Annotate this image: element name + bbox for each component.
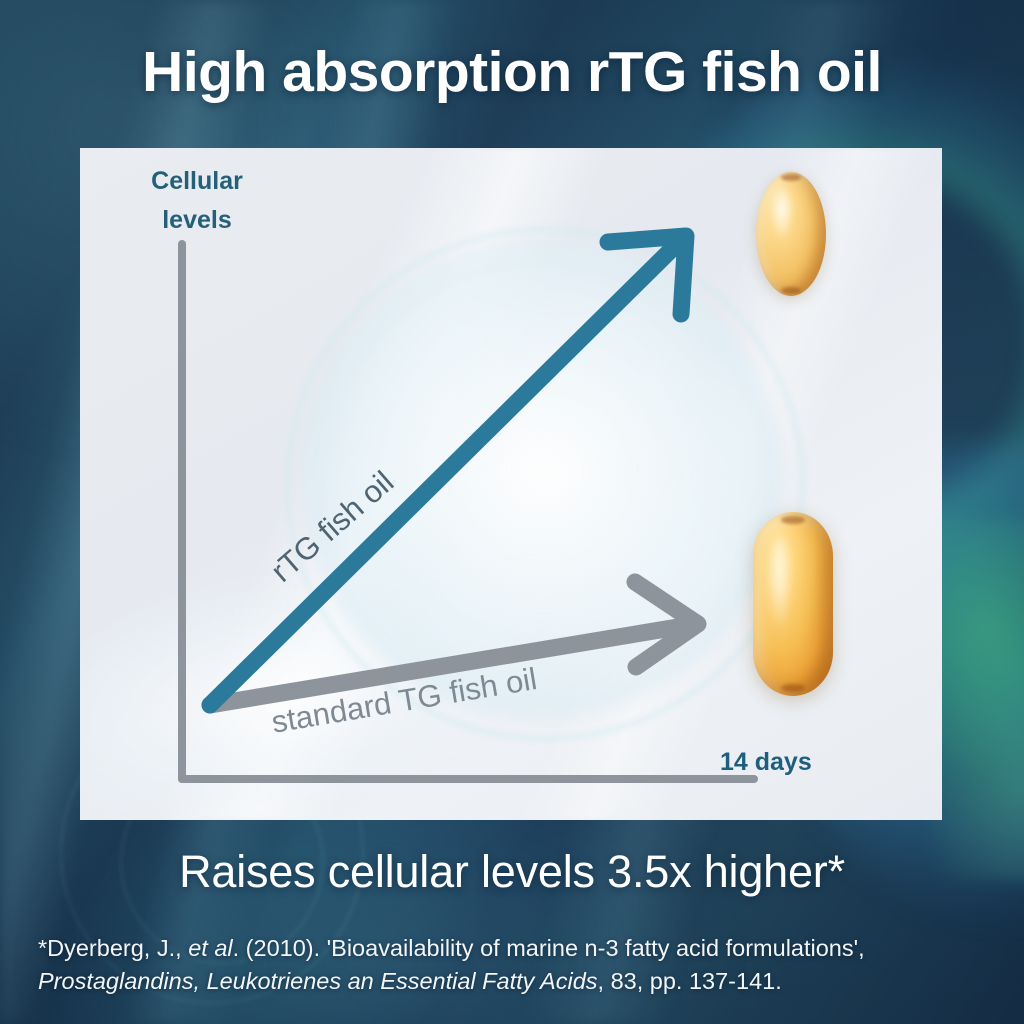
citation-line-2: Prostaglandins, Leukotrienes an Essentia… (38, 965, 986, 998)
capsule-seam-bottom (781, 684, 805, 692)
page-title: High absorption rTG fish oil (0, 42, 1024, 102)
citation: *Dyerberg, J., et al. (2010). 'Bioavaila… (0, 932, 1024, 999)
citation-journal: Prostaglandins, Leukotrienes an Essentia… (38, 968, 598, 994)
capsule-seam-bottom (781, 287, 801, 294)
chart-panel: Cellular levels 14 days rTG fish oil sta… (80, 148, 942, 820)
capsule-highlight (768, 536, 792, 632)
citation-line1-part3: . (2010). 'Bioavailability of marine n-3… (233, 935, 865, 961)
citation-etal: et al (188, 935, 232, 961)
citation-pages: , 83, pp. 137-141. (598, 968, 782, 994)
capsule-seam-top (781, 516, 805, 524)
capsule-seam-top (781, 174, 801, 181)
subtitle-claim: Raises cellular levels 3.5x higher* (0, 846, 1024, 898)
capsule-highlight (770, 188, 794, 240)
infographic-root: High absorption rTG fish oil Cellular le… (0, 0, 1024, 1024)
citation-line1-part1: *Dyerberg, J., (38, 935, 188, 961)
citation-line-1: *Dyerberg, J., et al. (2010). 'Bioavaila… (38, 932, 986, 965)
softgel-capsule-large (753, 512, 833, 696)
softgel-capsule-small (756, 172, 826, 296)
